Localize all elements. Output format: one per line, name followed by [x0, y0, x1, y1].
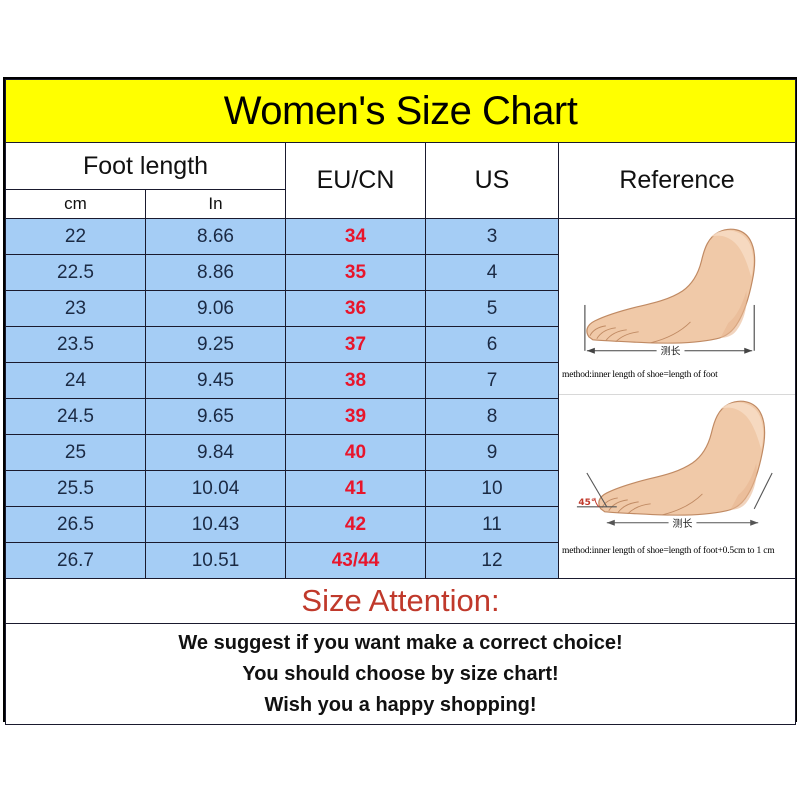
- cell-eu: 40: [286, 435, 426, 471]
- cell-eu: 39: [286, 399, 426, 435]
- cell-in: 8.66: [146, 219, 286, 255]
- cell-us: 9: [426, 435, 559, 471]
- note-line-1: We suggest if you want make a correct ch…: [6, 628, 795, 659]
- cell-cm: 25.5: [6, 471, 146, 507]
- reference-caption-1: method:inner length of shoe=length of fo…: [559, 369, 795, 380]
- reference-figure-2: 45° 测长 method:inner length of shoe=lengt…: [559, 395, 795, 570]
- cell-cm: 23: [6, 291, 146, 327]
- header-reference: Reference: [559, 143, 796, 219]
- cell-cm: 22.5: [6, 255, 146, 291]
- header-foot-length: Foot length: [6, 143, 286, 190]
- cell-eu: 42: [286, 507, 426, 543]
- cell-in: 10.51: [146, 543, 286, 579]
- cell-us: 5: [426, 291, 559, 327]
- angle-label: 45°: [578, 498, 595, 508]
- header-us: US: [426, 143, 559, 219]
- cell-us: 4: [426, 255, 559, 291]
- foot-side-profile-icon: 测长: [559, 219, 795, 369]
- header-in: In: [146, 190, 286, 219]
- cell-eu: 34: [286, 219, 426, 255]
- cell-eu: 36: [286, 291, 426, 327]
- reference-caption-2: method:inner length of shoe=length of fo…: [559, 545, 795, 556]
- reference-figure-1: 测长 method:inner length of shoe=length of…: [559, 219, 795, 395]
- measure-length-label: 测长: [673, 517, 693, 530]
- attention-heading-row: Size Attention:: [6, 579, 796, 624]
- note-line-2: You should choose by size chart!: [6, 659, 795, 690]
- title-row: Women's Size Chart: [6, 80, 796, 143]
- cell-in: 10.43: [146, 507, 286, 543]
- cell-us: 12: [426, 543, 559, 579]
- cell-cm: 24: [6, 363, 146, 399]
- cell-in: 10.04: [146, 471, 286, 507]
- cell-us: 3: [426, 219, 559, 255]
- cell-cm: 25: [6, 435, 146, 471]
- cell-in: 9.06: [146, 291, 286, 327]
- size-chart-container: Women's Size Chart Foot length EU/CN US …: [3, 77, 797, 722]
- attention-notes-row: We suggest if you want make a correct ch…: [6, 624, 796, 725]
- cell-in: 9.84: [146, 435, 286, 471]
- cell-in: 8.86: [146, 255, 286, 291]
- foot-side-profile-angle-icon: 45° 测长: [559, 395, 795, 545]
- cell-eu: 38: [286, 363, 426, 399]
- note-line-3: Wish you a happy shopping!: [6, 690, 795, 721]
- reference-column: 测长 method:inner length of shoe=length of…: [559, 219, 796, 579]
- cell-us: 6: [426, 327, 559, 363]
- cell-us: 7: [426, 363, 559, 399]
- cell-us: 8: [426, 399, 559, 435]
- cell-us: 10: [426, 471, 559, 507]
- table-row: 22 8.66 34 3: [6, 219, 796, 255]
- size-attention-notes: We suggest if you want make a correct ch…: [6, 624, 796, 725]
- cell-eu: 35: [286, 255, 426, 291]
- size-chart-table: Women's Size Chart Foot length EU/CN US …: [5, 79, 796, 725]
- cell-eu: 43/44: [286, 543, 426, 579]
- measure-length-label: 测长: [661, 345, 681, 358]
- cell-eu: 37: [286, 327, 426, 363]
- page-title: Women's Size Chart: [6, 80, 796, 143]
- cell-in: 9.25: [146, 327, 286, 363]
- cell-cm: 26.7: [6, 543, 146, 579]
- cell-us: 11: [426, 507, 559, 543]
- cell-cm: 23.5: [6, 327, 146, 363]
- cell-cm: 24.5: [6, 399, 146, 435]
- cell-cm: 22: [6, 219, 146, 255]
- cell-cm: 26.5: [6, 507, 146, 543]
- cell-eu: 41: [286, 471, 426, 507]
- header-row-primary: Foot length EU/CN US Reference: [6, 143, 796, 190]
- header-eu-cn: EU/CN: [286, 143, 426, 219]
- header-cm: cm: [6, 190, 146, 219]
- cell-in: 9.65: [146, 399, 286, 435]
- cell-in: 9.45: [146, 363, 286, 399]
- size-attention-heading: Size Attention:: [6, 579, 796, 624]
